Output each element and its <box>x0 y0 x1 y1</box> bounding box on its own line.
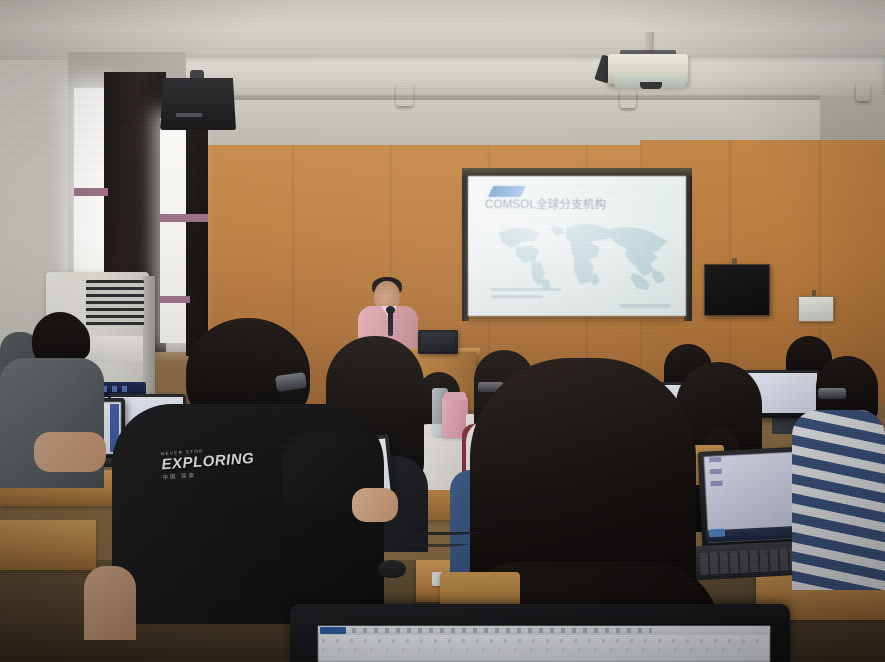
screen-glare <box>468 176 686 316</box>
student-arm <box>34 432 106 472</box>
air-conditioner-panel <box>88 336 143 362</box>
student-arm <box>84 566 136 640</box>
air-conditioner-vent-icon <box>86 280 144 326</box>
wall-monitor-icon <box>704 264 770 316</box>
ceiling-light-icon <box>856 82 870 101</box>
cable <box>404 540 468 547</box>
microphone-handle <box>388 310 393 336</box>
ribbon-tab <box>320 627 346 634</box>
classroom-photo: COMSOL全球分支机构 <box>0 0 885 662</box>
ceiling-light-icon <box>396 84 413 106</box>
ribbon-icons <box>352 628 652 633</box>
glasses-icon <box>818 388 846 399</box>
student-hand <box>352 488 398 522</box>
ceiling-light-icon <box>620 88 636 108</box>
window-mullion <box>74 188 108 196</box>
thermos-cap <box>444 392 466 400</box>
podium-laptop-screen <box>421 333 455 351</box>
speaker-label <box>176 113 202 117</box>
window-mullion <box>160 214 208 222</box>
jacket-graphic: NEVER STOP EXPLORING 中国 探索 <box>161 445 260 494</box>
wall-speaker-icon <box>160 78 236 130</box>
desktop-icons <box>709 457 723 492</box>
start-button-icon <box>709 529 725 538</box>
desk <box>0 520 96 570</box>
computer-mouse <box>378 560 406 578</box>
window-mullion <box>160 296 190 303</box>
student-body-striped <box>792 410 885 590</box>
spreadsheet-row <box>322 639 762 643</box>
curtain <box>186 106 208 356</box>
spreadsheet-row <box>322 648 742 652</box>
cable <box>396 528 482 535</box>
projector-lens-icon <box>640 82 662 89</box>
wall-sign <box>798 296 834 322</box>
